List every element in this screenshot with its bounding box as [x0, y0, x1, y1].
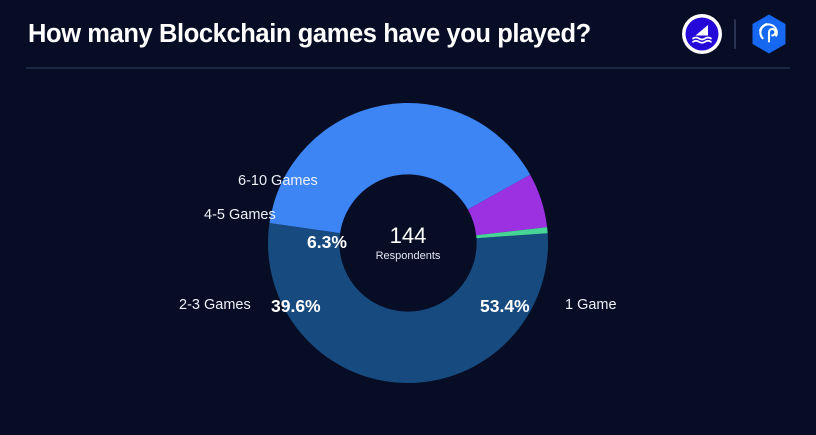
- logo-divider: [734, 19, 736, 49]
- donut-chart: 144 Respondents 53.4% 39.6% 6.3% 1 Game …: [0, 68, 816, 435]
- category-label-four-five: 4-5 Games: [204, 207, 276, 223]
- category-label-one-game: 1 Game: [565, 297, 617, 313]
- chart-page: How many Blockchain games have you playe…: [0, 0, 816, 435]
- page-title: How many Blockchain games have you playe…: [28, 20, 591, 49]
- category-label-two-three: 2-3 Games: [179, 297, 251, 313]
- category-label-six-ten: 6-10 Games: [238, 173, 318, 189]
- hexagon-spiral-logo: [748, 13, 790, 55]
- page-header: How many Blockchain games have you playe…: [0, 0, 816, 68]
- percent-label-one-game: 53.4%: [480, 296, 530, 317]
- percent-label-four-five: 6.3%: [307, 232, 347, 253]
- logo-group: [682, 13, 790, 55]
- sailboat-badge-logo: [682, 14, 722, 54]
- percent-label-two-three: 39.6%: [271, 296, 321, 317]
